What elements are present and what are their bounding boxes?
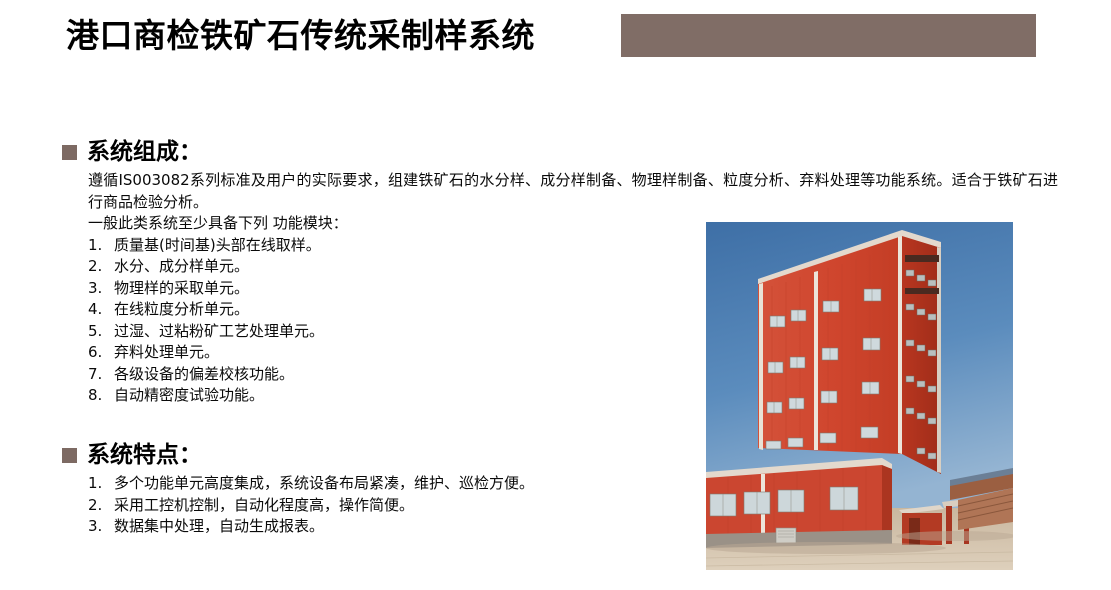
square-bullet-icon — [62, 145, 77, 160]
list-item-number: 2. — [88, 495, 114, 517]
list-item-label: 采用工控机控制，自动化程度高，操作简便。 — [114, 495, 414, 517]
section-features-title: 系统特点： — [87, 442, 202, 468]
list-item-label: 物理样的采取单元。 — [114, 278, 249, 300]
list-item-label: 弃料处理单元。 — [114, 342, 219, 364]
list-item-label: 数据集中处理，自动生成报表。 — [114, 516, 324, 538]
list-item-number: 8. — [88, 385, 114, 407]
section-features-header: 系统特点： — [62, 441, 682, 469]
list-item-label: 自动精密度试验功能。 — [114, 385, 264, 407]
list-item-number: 4. — [88, 299, 114, 321]
photo-frame — [706, 222, 1013, 570]
section-composition-title: 系统组成： — [87, 139, 202, 165]
section-features: 系统特点： 1. 多个功能单元高度集成，系统设备布局紧凑，维护、巡检方便。 2.… — [62, 441, 682, 538]
list-item: 3. 数据集中处理，自动生成报表。 — [88, 516, 682, 538]
list-item-label: 质量基(时间基)头部在线取样。 — [114, 235, 321, 257]
list-item-number: 2. — [88, 256, 114, 278]
list-item-number: 6. — [88, 342, 114, 364]
list-item: 1. 多个功能单元高度集成，系统设备布局紧凑，维护、巡检方便。 — [88, 473, 682, 495]
slide-content: 系统组成： 遵循IS003082系列标准及用户的实际要求，组建铁矿石的水分样、成… — [0, 0, 1111, 590]
list-item-number: 5. — [88, 321, 114, 343]
list-item-label: 各级设备的偏差校核功能。 — [114, 364, 294, 386]
list-item-number: 7. — [88, 364, 114, 386]
list-item-number: 1. — [88, 473, 114, 495]
list-item-number: 3. — [88, 516, 114, 538]
square-bullet-icon — [62, 448, 77, 463]
composition-paragraph: 遵循IS003082系列标准及用户的实际要求，组建铁矿石的水分样、成分样制备、物… — [88, 170, 1058, 213]
list-item-label: 水分、成分样单元。 — [114, 256, 249, 278]
list-item: 2. 采用工控机控制，自动化程度高，操作简便。 — [88, 495, 682, 517]
list-item-number: 3. — [88, 278, 114, 300]
list-item-label: 过湿、过粘粉矿工艺处理单元。 — [114, 321, 324, 343]
list-item-label: 多个功能单元高度集成，系统设备布局紧凑，维护、巡检方便。 — [114, 473, 534, 495]
section-composition-header: 系统组成： — [62, 138, 1052, 166]
features-list: 1. 多个功能单元高度集成，系统设备布局紧凑，维护、巡检方便。 2. 采用工控机… — [88, 473, 682, 538]
red-industrial-building-photo — [706, 222, 1013, 570]
list-item-number: 1. — [88, 235, 114, 257]
section-features-body: 1. 多个功能单元高度集成，系统设备布局紧凑，维护、巡检方便。 2. 采用工控机… — [88, 473, 682, 538]
list-item-label: 在线粒度分析单元。 — [114, 299, 249, 321]
